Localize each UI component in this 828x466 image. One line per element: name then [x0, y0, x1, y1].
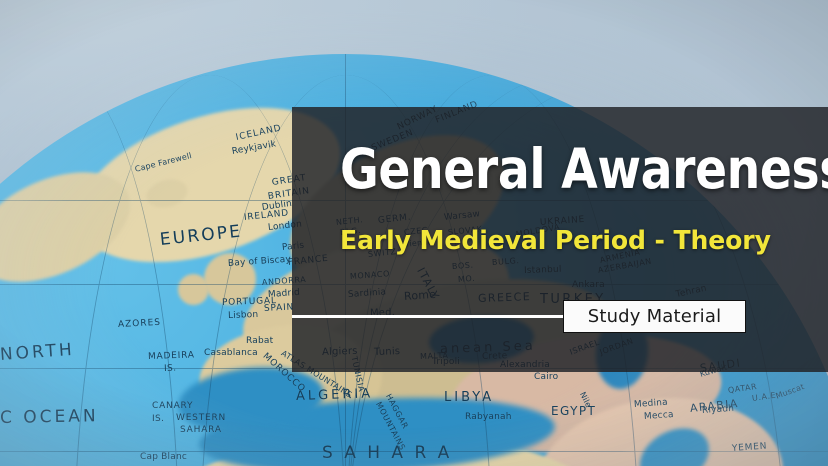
study-material-badge[interactable]: Study Material — [563, 300, 746, 333]
map-label: S A H A R A — [322, 443, 452, 463]
map-label: Lisbon — [228, 310, 259, 321]
map-label: Medina — [634, 398, 669, 410]
map-label: Cape Farewell — [134, 151, 193, 174]
map-label: LIBYA — [444, 390, 494, 405]
map-label: EUROPE — [159, 221, 243, 250]
map-label: SPAIN — [264, 302, 295, 314]
poster-canvas: ICELANDReykjavikCape FarewellGREATBRITAI… — [0, 0, 828, 466]
map-label: IS. — [152, 414, 164, 424]
map-label: Bay of Biscay — [228, 255, 292, 269]
map-label: Mecca — [644, 410, 674, 422]
map-label: SAHARA — [180, 425, 222, 435]
map-label: Cairo — [534, 372, 558, 382]
map-label: Casablanca — [204, 348, 258, 358]
map-label: Cap Blanc — [140, 452, 187, 462]
map-label: NORTH — [0, 340, 75, 365]
map-label: YEMEN — [732, 442, 768, 454]
map-label: C OCEAN — [0, 406, 99, 428]
map-label: Muscat — [774, 382, 805, 401]
map-label: Rabat — [246, 336, 273, 346]
map-label: CANARY — [152, 401, 193, 411]
map-label: AZORES — [118, 318, 162, 330]
study-material-badge-label: Study Material — [588, 306, 722, 327]
divider-line — [292, 315, 568, 318]
page-title: General Awareness — [340, 139, 744, 199]
map-label: Riyadh — [702, 404, 735, 416]
map-label: MADEIRA — [148, 350, 195, 362]
map-label: Rabyanah — [465, 412, 512, 422]
page-subtitle: Early Medieval Period - Theory — [340, 225, 771, 257]
map-label: WESTERN — [176, 413, 226, 423]
map-label: IS. — [164, 364, 177, 374]
